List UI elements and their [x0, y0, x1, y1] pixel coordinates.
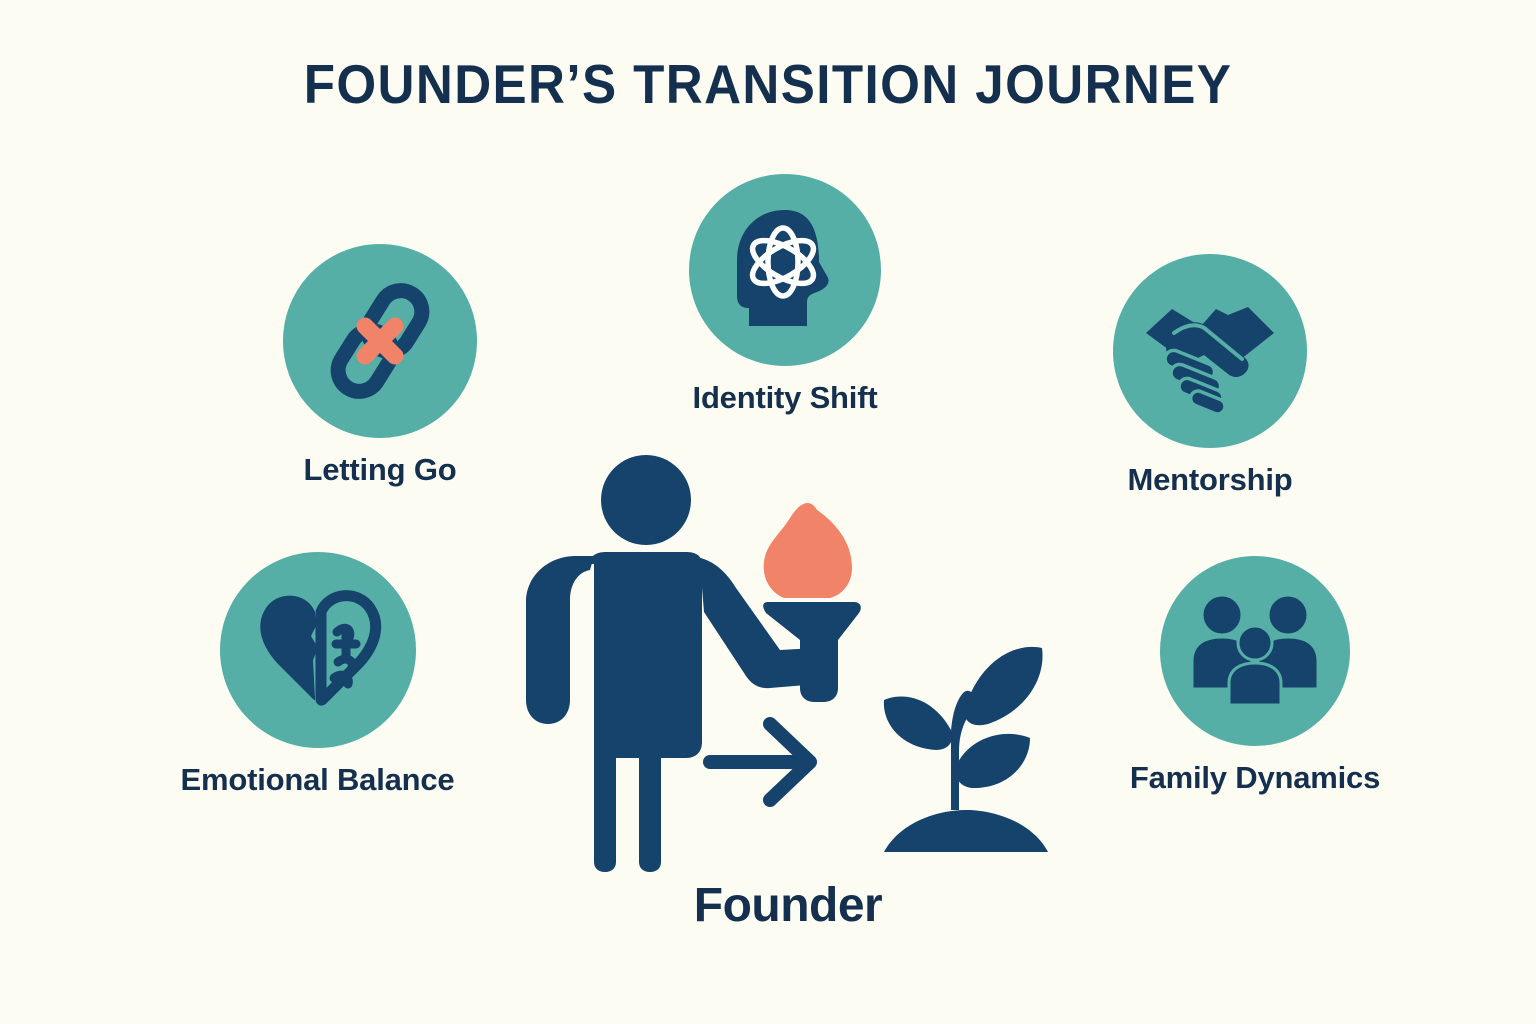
founder-scene [518, 452, 1058, 872]
node-circle-letting-go [283, 244, 477, 438]
center-founder-group[interactable]: Founder [518, 452, 1058, 972]
node-circle-mentorship [1113, 254, 1307, 448]
head-atom-icon [715, 200, 855, 340]
flame-icon [764, 503, 852, 598]
node-label-family-dynamics: Family Dynamics [1130, 760, 1380, 796]
node-label-identity-shift: Identity Shift [693, 380, 878, 416]
broken-chain-icon [316, 277, 444, 405]
person-figure-icon [526, 455, 818, 872]
node-identity-shift[interactable]: Identity Shift [560, 174, 1010, 416]
handshake-icon [1140, 281, 1280, 421]
arrow-right-icon [710, 724, 810, 800]
node-circle-emotional-balance [220, 552, 416, 748]
infographic-canvas: FOUNDER’S TRANSITION JOURNEY Letting Go [0, 0, 1536, 1024]
seedling-plant-icon [884, 647, 1048, 852]
node-emotional-balance[interactable]: Emotional Balance [80, 552, 555, 798]
heart-brain-split-icon [252, 586, 384, 714]
page-title: FOUNDER’S TRANSITION JOURNEY [54, 52, 1482, 116]
node-label-mentorship: Mentorship [1127, 462, 1292, 498]
node-circle-family-dynamics [1160, 556, 1350, 746]
center-label-founder: Founder [694, 878, 882, 933]
node-circle-identity-shift [689, 174, 881, 366]
node-family-dynamics[interactable]: Family Dynamics [1015, 556, 1495, 796]
node-label-letting-go: Letting Go [304, 452, 457, 488]
family-group-icon [1189, 587, 1321, 715]
node-letting-go[interactable]: Letting Go [210, 244, 550, 488]
node-label-emotional-balance: Emotional Balance [181, 762, 455, 798]
